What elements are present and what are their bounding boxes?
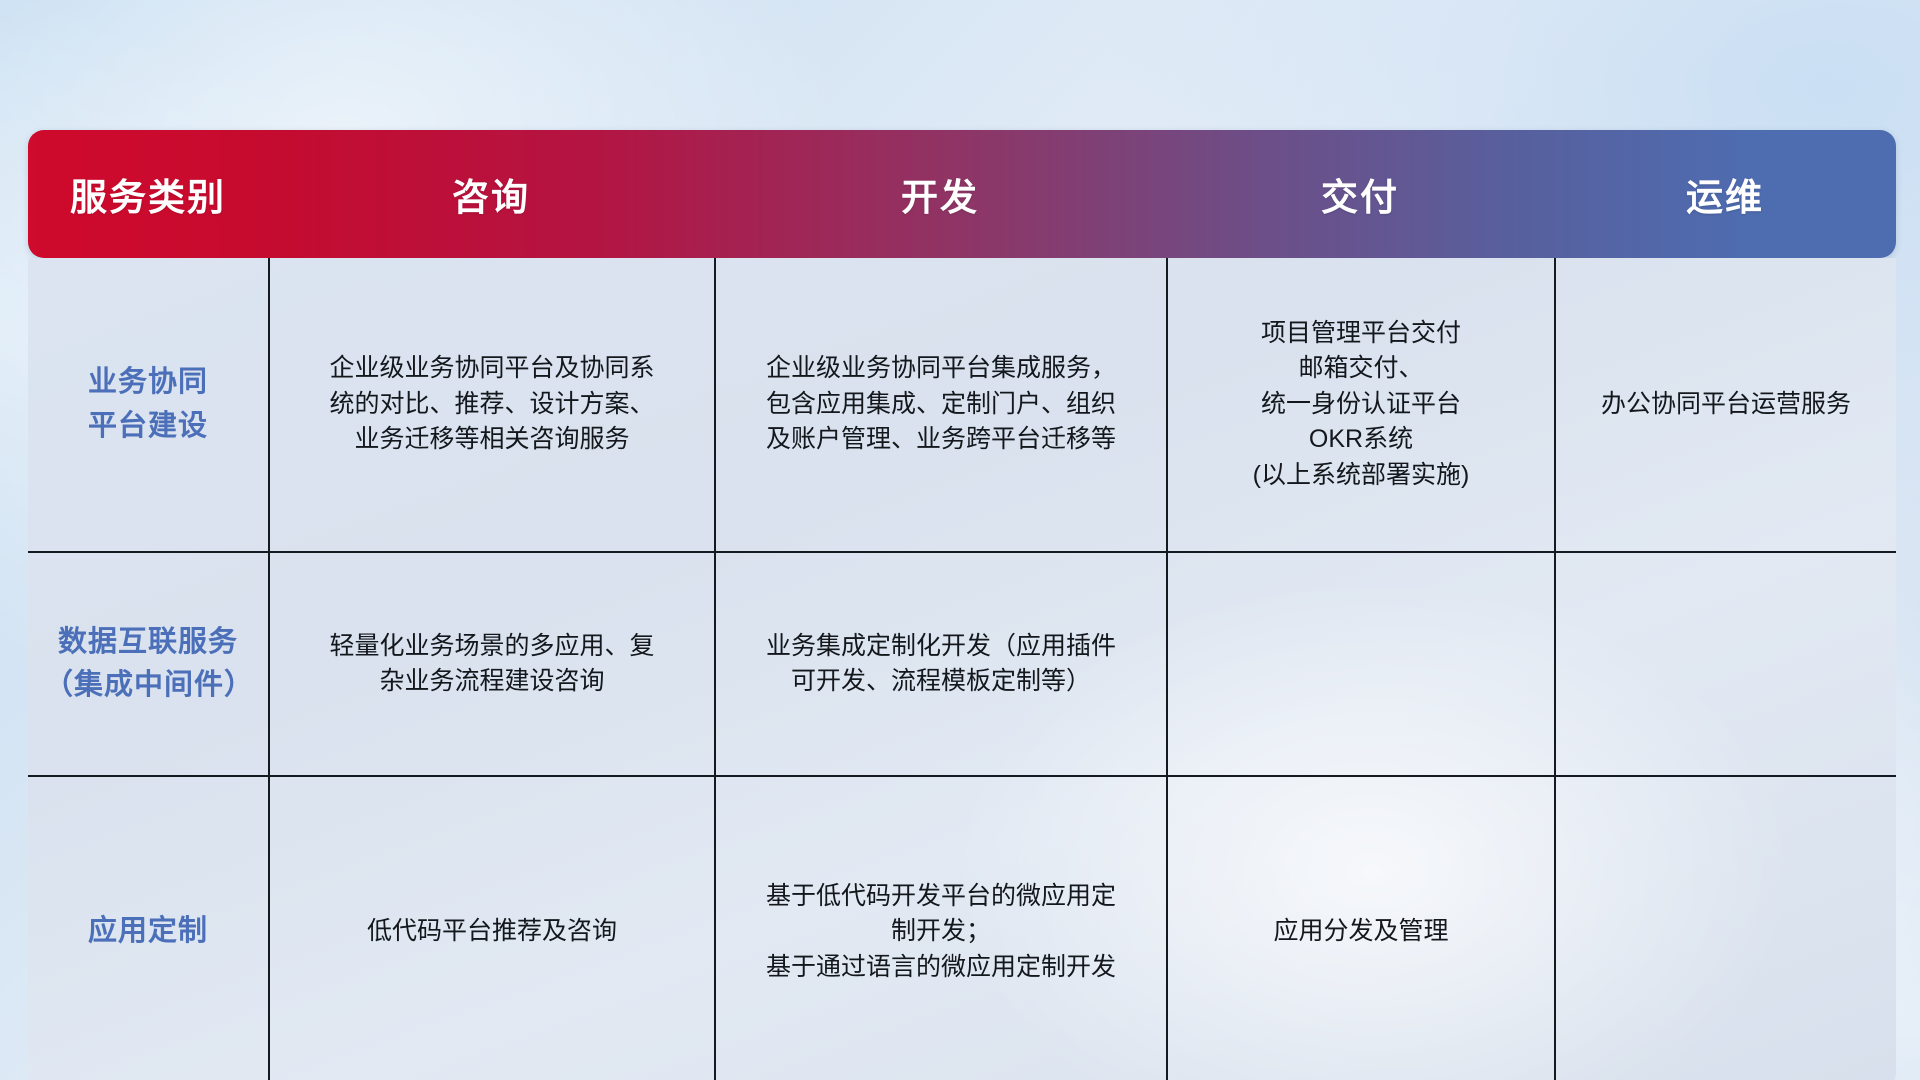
cell-ops [1554,777,1896,1080]
cell-deliver [1166,553,1554,775]
cell-deliver: 应用分发及管理 [1166,777,1554,1080]
column-header-ops: 运维 [1554,167,1896,221]
column-header-develop: 开发 [714,167,1166,221]
row-category-label: 应用定制 [28,777,268,1080]
table-row: 应用定制 低代码平台推荐及咨询 基于低代码开发平台的微应用定 制开发； 基于通过… [28,775,1896,1080]
cell-ops [1554,553,1896,775]
cell-consult: 企业级业务协同平台及协同系 统的对比、推荐、设计方案、 业务迁移等相关咨询服务 [268,258,714,551]
cell-consult: 低代码平台推荐及咨询 [268,777,714,1080]
cell-consult: 轻量化业务场景的多应用、复 杂业务流程建设咨询 [268,553,714,775]
column-header-consult: 咨询 [268,167,714,221]
row-category-label: 业务协同 平台建设 [28,258,268,551]
table-row: 业务协同 平台建设 企业级业务协同平台及协同系 统的对比、推荐、设计方案、 业务… [28,258,1896,551]
table-row: 数据互联服务 （集成中间件） 轻量化业务场景的多应用、复 杂业务流程建设咨询 业… [28,551,1896,775]
cell-deliver: 项目管理平台交付 邮箱交付、 统一身份认证平台 OKR系统 (以上系统部署实施) [1166,258,1554,551]
cell-develop: 企业级业务协同平台集成服务， 包含应用集成、定制门户、组织 及账户管理、业务跨平… [714,258,1166,551]
column-header-category: 服务类别 [28,167,268,221]
table-header-row: 服务类别 咨询 开发 交付 运维 [28,130,1896,258]
cell-ops: 办公协同平台运营服务 [1554,258,1896,551]
service-category-table: 服务类别 咨询 开发 交付 运维 业务协同 平台建设 企业级业务协同平台及协同系… [28,130,1896,955]
column-header-deliver: 交付 [1166,167,1554,221]
row-category-label: 数据互联服务 （集成中间件） [28,553,268,775]
table-body: 业务协同 平台建设 企业级业务协同平台及协同系 统的对比、推荐、设计方案、 业务… [28,258,1896,1080]
cell-develop: 业务集成定制化开发（应用插件 可开发、流程模板定制等） [714,553,1166,775]
cell-develop: 基于低代码开发平台的微应用定 制开发； 基于通过语言的微应用定制开发 [714,777,1166,1080]
